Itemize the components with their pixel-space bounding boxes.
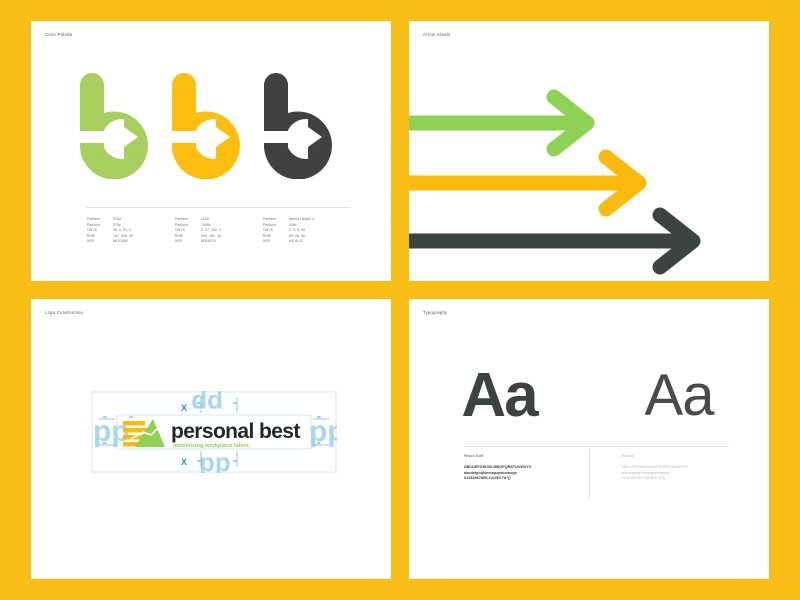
spec-key: Pantone bbox=[87, 223, 113, 227]
spec-value: 446c bbox=[289, 223, 351, 227]
spec-row: RGB65, 65, 66 bbox=[263, 234, 351, 238]
spec-key: HEX bbox=[87, 239, 113, 243]
arrow-black bbox=[409, 207, 723, 275]
spec-value: #FEBF10 bbox=[201, 239, 263, 243]
spec-value: #414142 bbox=[289, 239, 351, 243]
spec-column-black: PantoneNeutral Black U Pantone446c CMYK0… bbox=[263, 217, 351, 243]
spec-row: HEX#A7D05F bbox=[87, 239, 175, 243]
specimen-glyph-filson: Aa bbox=[461, 365, 536, 427]
spec-row: CMYK38, 0, 91, 0 bbox=[87, 228, 175, 232]
typography-detail-columns: Filson Soft ABCDEFGHIJKLMNOPQRSTUVWXYZ a… bbox=[464, 454, 729, 482]
ghost-letters-bottom: pp bbox=[199, 447, 231, 473]
spec-key: RGB bbox=[87, 234, 113, 238]
spec-row: CMYK0, 0, 0, 90 bbox=[263, 228, 351, 232]
spec-value: 374u bbox=[113, 217, 175, 221]
typography-column-filson: Filson Soft ABCDEFGHIJKLMNOPQRSTUVWXYZ a… bbox=[464, 454, 597, 482]
logo-wordmark: personal best bbox=[171, 420, 300, 443]
typography-divider bbox=[464, 446, 729, 447]
spec-row: Pantone7408c bbox=[175, 223, 263, 227]
svg-text:X: X bbox=[181, 403, 187, 413]
panel-title-logo-construction: Logo Construction bbox=[45, 310, 83, 315]
spec-key: Pantone bbox=[175, 223, 201, 227]
svg-text:2X: 2X bbox=[317, 441, 321, 445]
spec-key: Pantone bbox=[87, 217, 113, 221]
spec-value: 7408c bbox=[201, 223, 263, 227]
font-numerals-filson: 01234567890;1@#$%^&*() bbox=[464, 476, 585, 482]
spec-key: HEX bbox=[263, 239, 289, 243]
specimen-glyph-roboto: Aa bbox=[645, 367, 714, 425]
svg-text:2X: 2X bbox=[103, 441, 107, 445]
font-name-roboto: Roboto bbox=[622, 454, 718, 458]
b-mark-yellow bbox=[168, 69, 254, 179]
ghost-letters-right: pp bbox=[309, 415, 337, 448]
typography-column-roboto: Roboto ABCDEFGHIJKLMNOPQRSTUVWXYZ abcdef… bbox=[597, 454, 730, 482]
font-name-filson: Filson Soft bbox=[464, 454, 585, 458]
spec-row: RGB254, 191, 16 bbox=[175, 234, 263, 238]
spec-row: RGB167, 208, 95 bbox=[87, 234, 175, 238]
svg-text:2X: 2X bbox=[197, 401, 201, 405]
svg-text:2X: 2X bbox=[197, 459, 201, 463]
svg-text:2X: 2X bbox=[233, 459, 237, 463]
spec-column-yellow: Pantone115u Pantone7408c CMYK0, 27, 100,… bbox=[175, 217, 263, 243]
spec-row: Pantone374u bbox=[87, 217, 175, 221]
panel-title-typography: Typography bbox=[423, 310, 447, 315]
svg-text:2X: 2X bbox=[233, 401, 237, 405]
spec-row: HEX#414142 bbox=[263, 239, 351, 243]
spec-value: 254, 191, 16 bbox=[201, 234, 263, 238]
spec-key: RGB bbox=[263, 234, 289, 238]
panel-arrow-assets: Arrow Assets bbox=[409, 21, 769, 281]
svg-text:2X: 2X bbox=[103, 415, 107, 419]
panel-title-color-palette: Color Palette bbox=[45, 32, 72, 37]
spec-value: 65, 65, 66 bbox=[289, 234, 351, 238]
logo-construction-diagram: pp pp pp pp bbox=[91, 391, 337, 473]
spec-key: CMYK bbox=[175, 228, 201, 232]
arrow-green bbox=[409, 89, 617, 157]
spec-key: HEX bbox=[175, 239, 201, 243]
type-specimen-row: Aa Aa bbox=[409, 361, 769, 431]
spec-column-green: Pantone374u Pantone375c CMYK38, 0, 91, 0… bbox=[87, 217, 175, 243]
svg-text:1X: 1X bbox=[129, 415, 133, 419]
spec-key: RGB bbox=[175, 234, 201, 238]
spec-value: Neutral Black U bbox=[289, 217, 351, 221]
spec-row: HEX#FEBF10 bbox=[175, 239, 263, 243]
arrow-group bbox=[409, 21, 769, 281]
spec-key: CMYK bbox=[263, 228, 289, 232]
spec-value: 0, 27, 100, 0 bbox=[201, 228, 263, 232]
ghost-letters-top: pp bbox=[191, 391, 223, 419]
spec-row: Pantone115u bbox=[175, 217, 263, 221]
panel-typography: Typography Aa Aa Filson Soft ABCDEFGHIJK… bbox=[409, 299, 769, 579]
panel-logo-construction: Logo Construction Minimum Clear Space 2x… bbox=[31, 299, 391, 579]
panel-color-palette: Color Palette bbox=[31, 21, 391, 281]
spec-row: Pantone446c bbox=[263, 223, 351, 227]
b-mark-black bbox=[260, 69, 346, 179]
svg-text:X: X bbox=[181, 457, 187, 467]
spec-value: 167, 208, 95 bbox=[113, 234, 175, 238]
spec-value: 115u bbox=[201, 217, 263, 221]
spec-key: Pantone bbox=[263, 223, 289, 227]
spec-row: PantoneNeutral Black U bbox=[263, 217, 351, 221]
font-numerals-roboto: 01234567890;@#$%^&*() bbox=[622, 476, 718, 482]
type-specimen-secondary: Aa bbox=[589, 367, 769, 425]
logo-tagline: maximizing workplace talent. bbox=[173, 443, 251, 449]
spec-key: Pantone bbox=[175, 217, 201, 221]
spec-row: CMYK0, 27, 100, 0 bbox=[175, 228, 263, 232]
brand-guidelines-board: Color Palette bbox=[0, 0, 800, 600]
b-mark-green bbox=[76, 69, 162, 179]
spec-value: 0, 0, 0, 90 bbox=[289, 228, 351, 232]
palette-spec-table: Pantone374u Pantone375c CMYK38, 0, 91, 0… bbox=[87, 217, 351, 243]
spec-value: 38, 0, 91, 0 bbox=[113, 228, 175, 232]
palette-divider bbox=[86, 207, 351, 208]
spec-key: Pantone bbox=[263, 217, 289, 221]
type-specimen-primary: Aa bbox=[409, 365, 589, 427]
svg-text:pp: pp bbox=[191, 391, 223, 419]
spec-value: #A7D05F bbox=[113, 239, 175, 243]
b-mark-group bbox=[31, 69, 391, 179]
svg-text:2X: 2X bbox=[317, 415, 321, 419]
spec-value: 375c bbox=[113, 223, 175, 227]
spec-row: Pantone375c bbox=[87, 223, 175, 227]
spec-key: CMYK bbox=[87, 228, 113, 232]
